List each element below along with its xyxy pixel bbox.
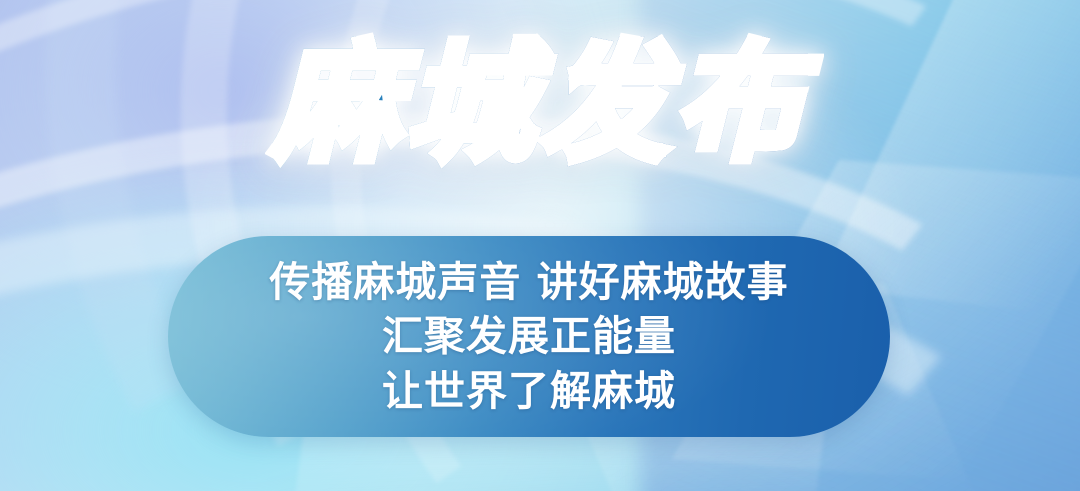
title-container: 麻城发布 (0, 36, 1080, 174)
slogan-pill: 传播麻城声音 讲好麻城故事 汇聚发展正能量 让世界了解麻城 (168, 236, 890, 437)
banner-title: 麻城发布 (272, 36, 808, 174)
macheng-release-banner: 麻城发布 传播麻城声音 讲好麻城故事 汇聚发展正能量 让世界了解麻城 (0, 0, 1080, 491)
slogan-line-2: 汇聚发展正能量 (382, 309, 676, 363)
slogan-line-1: 传播麻城声音 讲好麻城故事 (269, 255, 788, 309)
slogan-line-3: 让世界了解麻城 (382, 364, 676, 418)
